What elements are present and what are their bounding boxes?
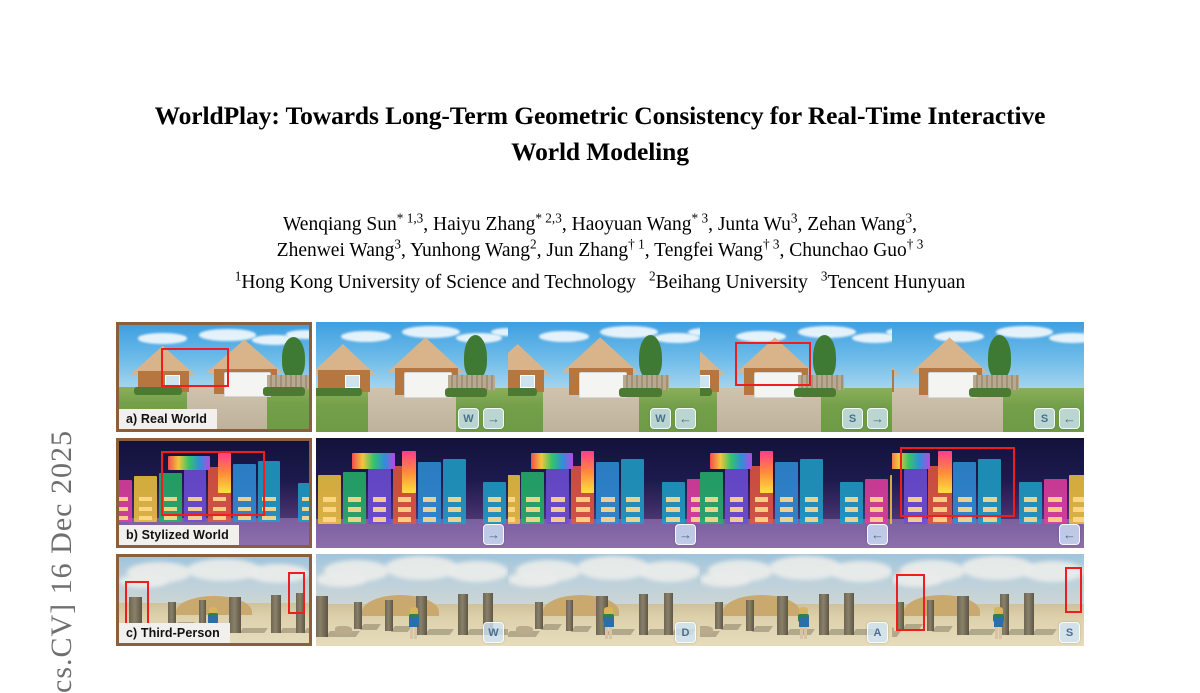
affiliation-mark: 2 [649,269,656,284]
window-light [139,516,152,520]
window-light [845,507,858,511]
window-light [488,497,501,501]
window-light [805,507,818,511]
window-light [908,497,921,501]
affiliation-name: Beihang University [656,272,808,293]
window-light [116,516,128,520]
cloud [447,561,508,581]
window-light [845,517,858,521]
window-light [188,497,201,501]
window-light [1024,517,1037,521]
window-light [958,517,971,521]
window-light [805,517,818,521]
generated-frame-panel[interactable]: S [892,554,1084,646]
hedge-left [134,387,182,394]
author-affiliation-mark: 3 [906,211,913,226]
author-affiliation-mark: 3 [394,236,401,251]
author-affiliation-mark: * 1,3 [397,211,424,226]
window-light [164,497,177,501]
vertical-neon-sign [581,451,594,493]
hero-leg-right [414,627,417,639]
window-light [526,507,539,511]
pillar-shadow [1032,629,1057,635]
key-badge-group: W← [650,408,696,429]
pillar-shadow [425,629,454,635]
stone-pillar [354,602,362,630]
cloud [138,333,187,343]
cloud [934,331,984,342]
stone-pillar [819,594,829,634]
affiliation-name: Hong Kong University of Science and Tech… [241,272,636,293]
row-third-person: c) Third-PersonWDAS [116,554,1084,646]
palm-tree [988,335,1011,379]
key-badge-s: S [842,408,863,429]
window-light [551,507,564,511]
key-badge-s: S [1034,408,1055,429]
window-light [755,517,768,521]
window-light [238,497,251,501]
window-light [139,507,152,511]
window-light [1048,507,1061,511]
hedge-right [445,388,487,397]
window-light [755,507,768,511]
author-name: Zehan Wang [807,214,905,235]
window-light [508,517,515,521]
window-light [730,497,743,501]
generated-frame-panel[interactable]: A [700,554,892,646]
building [596,462,619,524]
author-affiliation-mark: † 3 [907,236,924,251]
stone-pillar [458,594,468,634]
window-light [705,517,718,521]
author-affiliation-mark: * 2,3 [535,211,562,226]
building [443,459,466,524]
key-badge-group: W→ [458,408,504,429]
affiliation-name: Tencent Hunyuan [827,272,965,293]
cloud [892,572,942,587]
author-name: Yunhong Wang [410,240,530,261]
window-light [526,497,539,501]
window-light [398,497,411,501]
key-badge-d: D [675,622,696,643]
author-name: Wenqiang Sun [283,214,397,235]
window-light [302,507,312,511]
hedge-right [263,387,305,395]
generated-frame-panel[interactable]: W [316,554,508,646]
cloud [539,331,589,342]
stone-pillar [296,593,306,633]
window-light [348,517,361,521]
window-light [116,497,128,501]
hero-leg-left [995,627,998,639]
hedge-left [700,388,712,396]
building [775,462,798,524]
author-line-2: Zhenwei Wang3, Yunhong Wang2, Jun Zhang†… [130,238,1070,264]
generated-frame-panel[interactable]: W→ [316,322,508,432]
author-affiliation-mark: 2 [530,236,537,251]
building [418,462,441,524]
key-badge-group: D [675,622,696,643]
generated-frame-panel[interactable]: → [316,438,508,548]
window-light [908,517,921,521]
window-light [983,517,996,521]
key-badge-group: S← [1034,408,1080,429]
window-light [1073,517,1084,521]
cloud [119,574,168,588]
window-light [448,497,461,501]
player-character [602,607,615,638]
vertical-neon-sign [402,451,415,493]
key-badge-w: W [458,408,479,429]
building [725,469,748,524]
window-light [551,517,564,521]
paper-first-page: WorldPlay: Towards Long-Term Geometric C… [0,0,1200,648]
key-badge-group: S [1059,622,1080,643]
building [258,461,281,522]
window-light [626,507,639,511]
hedge-left [508,388,537,396]
window-light [870,497,883,501]
rock [516,626,533,634]
window-light [526,517,539,521]
window-light [933,517,946,521]
cloud [736,331,786,342]
window-light [1024,507,1037,511]
teaser-figure: a) Real WorldW→W←S→S←b) Stylized World→→… [116,322,1084,646]
building [368,469,391,524]
window-light [1048,497,1061,501]
panel-caption: b) Stylized World [119,525,239,545]
building [233,464,256,522]
cloud [639,561,700,581]
window-light [302,516,312,520]
hedge-right [619,388,661,397]
player-character [797,607,810,638]
author-name: Tengfei Wang [654,240,763,261]
pillar-shadow [752,626,773,632]
cloud [1023,561,1084,581]
arrow-right-key-icon: → [675,524,696,545]
window-light [705,497,718,501]
palm-tree [282,337,305,379]
house-window-left [520,375,535,388]
window-light [448,517,461,521]
pillar-shadow [239,628,268,633]
window-light [666,497,679,501]
author-line-1: Wenqiang Sun* 1,3, Haiyu Zhang* 2,3, Hao… [130,212,1070,238]
key-badge-w: W [650,408,671,429]
palm-tree [813,335,836,379]
arrow-left-key-icon: ← [1059,524,1080,545]
generated-frame-panel[interactable]: ← [700,438,892,548]
hero-leg-left [800,627,803,639]
author-affiliation-mark: † 1 [628,236,645,251]
window-light [423,507,436,511]
pillar-shadow [541,624,562,630]
house-wall-left [892,370,894,392]
window-light [666,517,679,521]
window-light [373,517,386,521]
stone-pillar [715,602,723,630]
window-light [666,507,679,511]
reference-frame-panel[interactable]: b) Stylized World [116,438,312,548]
window-light [508,507,515,511]
window-light [601,507,614,511]
key-badge-group: W [483,622,504,643]
window-light [805,497,818,501]
stone-pillar [271,595,281,633]
window-light [780,497,793,501]
generated-frame-panel[interactable]: ← [892,438,1084,548]
window-light [323,507,336,511]
window-light [448,507,461,511]
author-name: Junta Wu [718,214,791,235]
author-list: Wenqiang Sun* 1,3, Haiyu Zhang* 2,3, Hao… [130,212,1070,263]
stone-pillar [535,602,543,630]
building [800,459,823,524]
house-window-left [165,375,180,387]
stone-pillar [896,602,904,630]
window-light [488,517,501,521]
window-light [908,507,921,511]
window-light [958,497,971,501]
row-stylized-world: b) Stylized World→→←← [116,438,1084,548]
cloud [248,564,309,583]
window-light [691,507,700,511]
affiliation-list: 1Hong Kong University of Science and Tec… [130,270,1070,295]
window-light [188,507,201,511]
window-light [626,517,639,521]
author-name: Jun Zhang [546,240,628,261]
arrow-left-key-icon: ← [1059,408,1080,429]
stone-pillar [1024,593,1034,635]
hero-leg-left [605,627,608,639]
palm-tree [639,335,662,379]
window-light [626,497,639,501]
window-light [116,507,128,511]
hero-leg-right [999,627,1002,639]
window-light [164,516,177,520]
key-badge-a: A [867,622,888,643]
generated-frame-panel[interactable]: → [508,438,700,548]
author-affiliation-mark: * 3 [692,211,709,226]
window-light [1073,497,1084,501]
cloud [1049,333,1084,343]
neon-billboard [168,456,210,471]
arrow-left-key-icon: ← [867,524,888,545]
player-character [407,607,420,638]
building [904,469,927,524]
reference-frame-panel[interactable]: a) Real World [116,322,312,432]
stone-pillar [664,593,674,635]
title-line-1: WorldPlay: Towards Long-Term Geometric C… [155,101,922,130]
window-light [958,507,971,511]
window-light [845,497,858,501]
window-light [933,507,946,511]
pillar-shadow [902,624,923,630]
hero-leg-right [804,627,807,639]
key-badge-group: ← [1059,524,1080,545]
player-character [992,607,1005,638]
hero-leg-left [410,627,413,639]
cloud [831,561,892,581]
stone-pillar [957,596,969,635]
window-light [188,516,201,520]
reference-frame-panel[interactable]: c) Third-Person [116,554,312,646]
row-real-world: a) Real WorldW→W←S→S← [116,322,1084,432]
building [953,462,976,524]
cloud [316,572,366,587]
building [546,469,569,524]
window-light [983,497,996,501]
building [184,470,207,522]
key-badge-group: → [483,524,504,545]
building [978,459,1001,524]
window-light [933,497,946,501]
generated-frame-panel[interactable]: S← [892,322,1084,432]
panel-caption: c) Third-Person [119,623,230,643]
window-light [348,497,361,501]
stone-pillar [316,596,328,636]
stone-pillar [566,600,574,631]
window-light [983,507,996,511]
stone-pillar [639,594,649,634]
window-light [213,497,226,501]
window-light [423,517,436,521]
stone-pillar [746,600,754,631]
window-light [238,507,251,511]
window-light [262,516,275,520]
cloud [852,333,892,343]
hedge-right [969,388,1011,397]
generated-frame-panel[interactable]: D [508,554,700,646]
window-light [302,497,312,501]
window-light [508,497,515,501]
key-badge-group: ← [867,524,888,545]
window-light [1024,497,1037,501]
window-light [551,497,564,501]
stone-pillar [927,600,935,631]
window-light [213,507,226,511]
author-name: Chunchao Guo [789,240,907,261]
window-light [780,507,793,511]
window-light [870,507,883,511]
window-light [423,497,436,501]
stone-pillar [777,596,789,635]
arrow-left-key-icon: ← [675,408,696,429]
vertical-neon-sign [760,451,773,493]
window-light [323,497,336,501]
key-badge-s: S [1059,622,1080,643]
generated-frame-panel[interactable]: S→ [700,322,892,432]
cloud [700,572,750,587]
neon-billboard [892,453,930,468]
window-light [576,497,589,501]
key-badge-group: → [675,524,696,545]
generated-frame-panel[interactable]: W← [508,322,700,432]
window-light [705,507,718,511]
panel-caption: a) Real World [119,409,217,429]
house-window-left [345,375,360,388]
author-affiliation-mark: 3 [791,211,798,226]
window-light [488,507,501,511]
window-light [691,517,700,521]
author-affiliation-mark: † 3 [763,236,780,251]
stone-pillar [844,593,854,635]
window-light [262,507,275,511]
neon-billboard [531,453,573,468]
hedge-right [794,388,836,397]
window-light [348,507,361,511]
key-badge-w: W [483,622,504,643]
window-light [262,497,275,501]
window-light [164,507,177,511]
window-light [373,507,386,511]
window-light [576,517,589,521]
cloud [199,329,256,340]
vertical-neon-sign [218,453,231,493]
window-light [755,497,768,501]
vertical-neon-sign [938,451,951,493]
window-light [323,517,336,521]
key-badge-group: S→ [842,408,888,429]
arrow-right-key-icon: → [483,408,504,429]
stone-pillar [229,597,240,633]
page-title: WorldPlay: Towards Long-Term Geometric C… [150,98,1050,170]
hedge-left [316,388,362,396]
key-badge-group: A [867,622,888,643]
window-light [730,507,743,511]
window-light [730,517,743,521]
window-light [238,516,251,520]
rock [335,626,352,634]
window-light [870,517,883,521]
window-light [1073,507,1084,511]
window-light [398,507,411,511]
arrow-right-key-icon: → [867,408,888,429]
cloud [341,331,391,342]
window-light [398,517,411,521]
house-window-left [700,375,710,388]
neon-billboard [710,453,752,468]
palm-tree [464,335,487,379]
window-light [139,497,152,501]
window-light [601,497,614,501]
cloud [508,572,558,587]
window-light [780,517,793,521]
arrow-right-key-icon: → [483,524,504,545]
building [621,459,644,524]
author-name: Haiyu Zhang [433,214,535,235]
hero-leg-right [609,627,612,639]
author-name: Zhenwei Wang [277,240,395,261]
window-light [576,507,589,511]
rock [700,626,713,634]
author-name: Haoyuan Wang [572,214,692,235]
neon-billboard [352,453,394,468]
stone-pillar [385,600,393,631]
window-light [373,497,386,501]
window-light [691,497,700,501]
window-light [1048,517,1061,521]
window-light [213,516,226,520]
window-light [601,517,614,521]
